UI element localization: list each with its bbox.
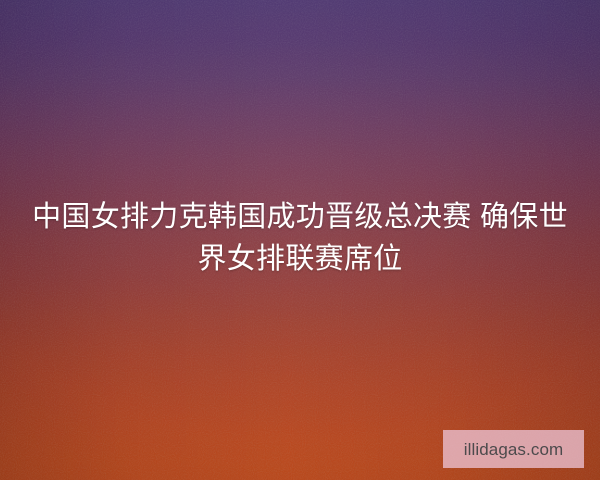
headline-card: 中国女排力克韩国成功晋级总决赛 确保世界女排联赛席位 illidagas.com [0,0,600,480]
watermark-badge: illidagas.com [443,430,584,468]
page-title: 中国女排力克韩国成功晋级总决赛 确保世界女排联赛席位 [0,196,600,280]
watermark-label: illidagas.com [464,441,564,458]
